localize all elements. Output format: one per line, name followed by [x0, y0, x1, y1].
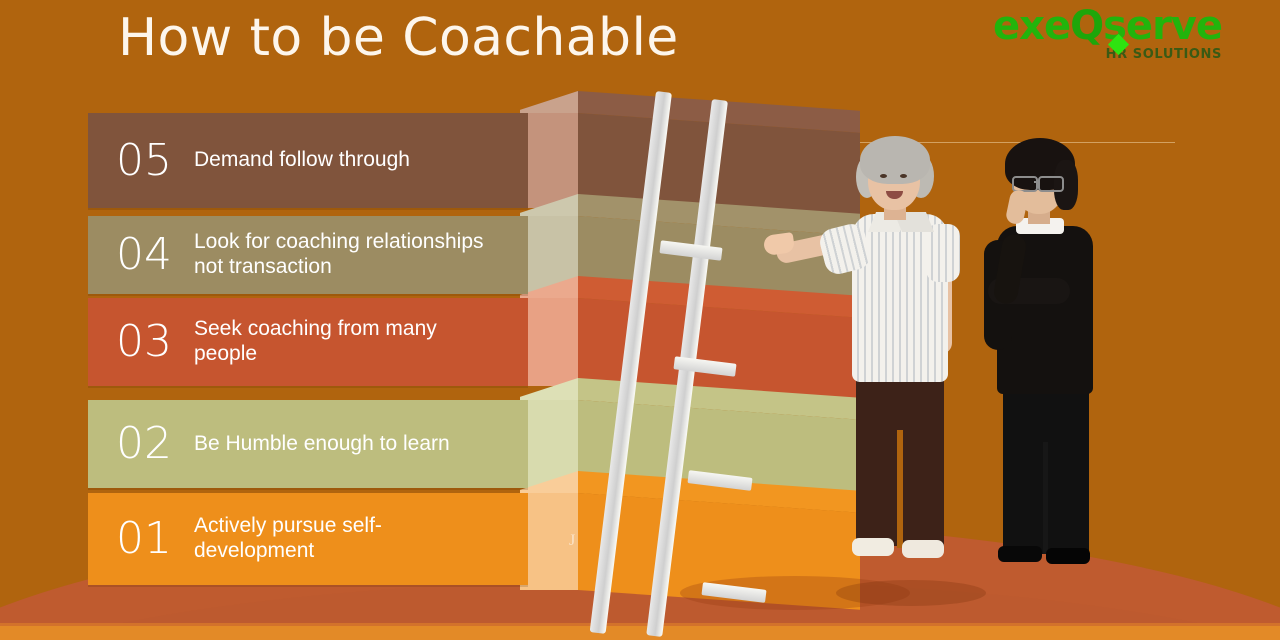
step-number: 01 [88, 517, 194, 561]
slide-canvas: How to be Coachable exeQserve HR SOLUTIO… [0, 0, 1280, 640]
hair [860, 136, 930, 184]
logo-wordmark: exeQserve [993, 6, 1222, 46]
logo-tagline: HR SOLUTIONS [993, 48, 1222, 61]
leg-gap [897, 430, 903, 548]
leg-gap [1043, 442, 1048, 554]
step-row-01[interactable]: 01 Actively pursue self-development [88, 493, 528, 585]
step-text: Seek coaching from many people [194, 317, 498, 367]
block-marker: J [569, 532, 575, 550]
step-text: Look for coaching relationships not tran… [194, 230, 528, 280]
ladder-rung-3 [687, 470, 752, 491]
ladder-rung-4 [701, 582, 766, 603]
step-row-04[interactable]: 04 Look for coaching relationships not t… [88, 216, 528, 294]
shoe-left [852, 538, 894, 556]
logo-text-q: Q [1070, 3, 1103, 49]
people-illustration [760, 130, 1160, 600]
step-row-05[interactable]: 05 Demand follow through [88, 113, 528, 208]
glasses-bridge [1034, 181, 1040, 183]
sleeve-left [926, 224, 960, 282]
glasses-lens-right [1038, 176, 1064, 192]
step-text: Actively pursue self-development [194, 514, 448, 564]
step-number: 05 [88, 139, 194, 183]
step-text: Be Humble enough to learn [194, 432, 464, 457]
eye-right [900, 174, 907, 178]
step-text: Demand follow through [194, 148, 424, 173]
logo-text-exe: exe [993, 3, 1070, 49]
brand-logo: exeQserve HR SOLUTIONS [993, 6, 1222, 61]
page-title: How to be Coachable [118, 8, 679, 68]
step-number: 02 [88, 422, 194, 466]
step-number: 04 [88, 233, 194, 277]
step-row-02[interactable]: 02 Be Humble enough to learn [88, 400, 528, 488]
shoe-right [902, 540, 944, 558]
step-row-03[interactable]: 03 Seek coaching from many people [88, 298, 528, 386]
block-front-face [520, 113, 578, 208]
step-number: 03 [88, 320, 194, 364]
eye-left [880, 174, 887, 178]
ladder-rung-1 [659, 240, 722, 260]
block-front-face [520, 298, 578, 386]
shoe-right [1046, 548, 1090, 564]
shoe-left [998, 546, 1042, 562]
